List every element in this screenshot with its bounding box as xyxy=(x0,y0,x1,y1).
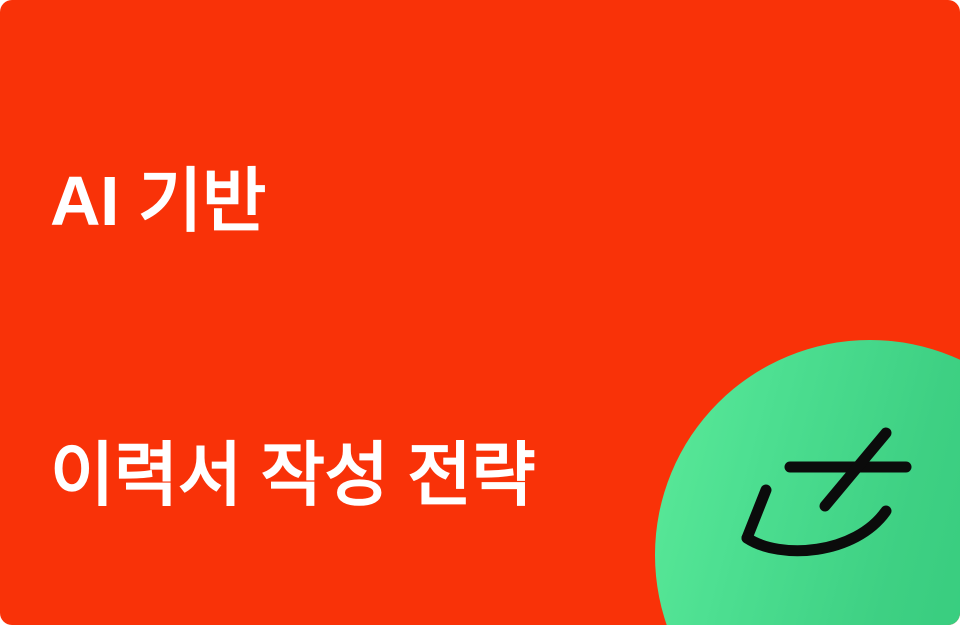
green-gradient-circle-icon xyxy=(655,340,960,625)
brand-mark-svg xyxy=(720,415,920,560)
promo-card: AI 기반 이력서 작성 전략 xyxy=(0,0,960,625)
mark-stroke-tick xyxy=(747,490,766,538)
mark-stroke-diagonal xyxy=(825,433,886,506)
page-title-line-1: AI 기반 xyxy=(50,161,650,276)
page-title: AI 기반 이력서 작성 전략 xyxy=(50,47,650,625)
mark-stroke-smile xyxy=(747,511,886,551)
handwritten-smile-mark-icon xyxy=(720,415,920,560)
page-title-line-2: 이력서 작성 전략 xyxy=(50,435,650,550)
